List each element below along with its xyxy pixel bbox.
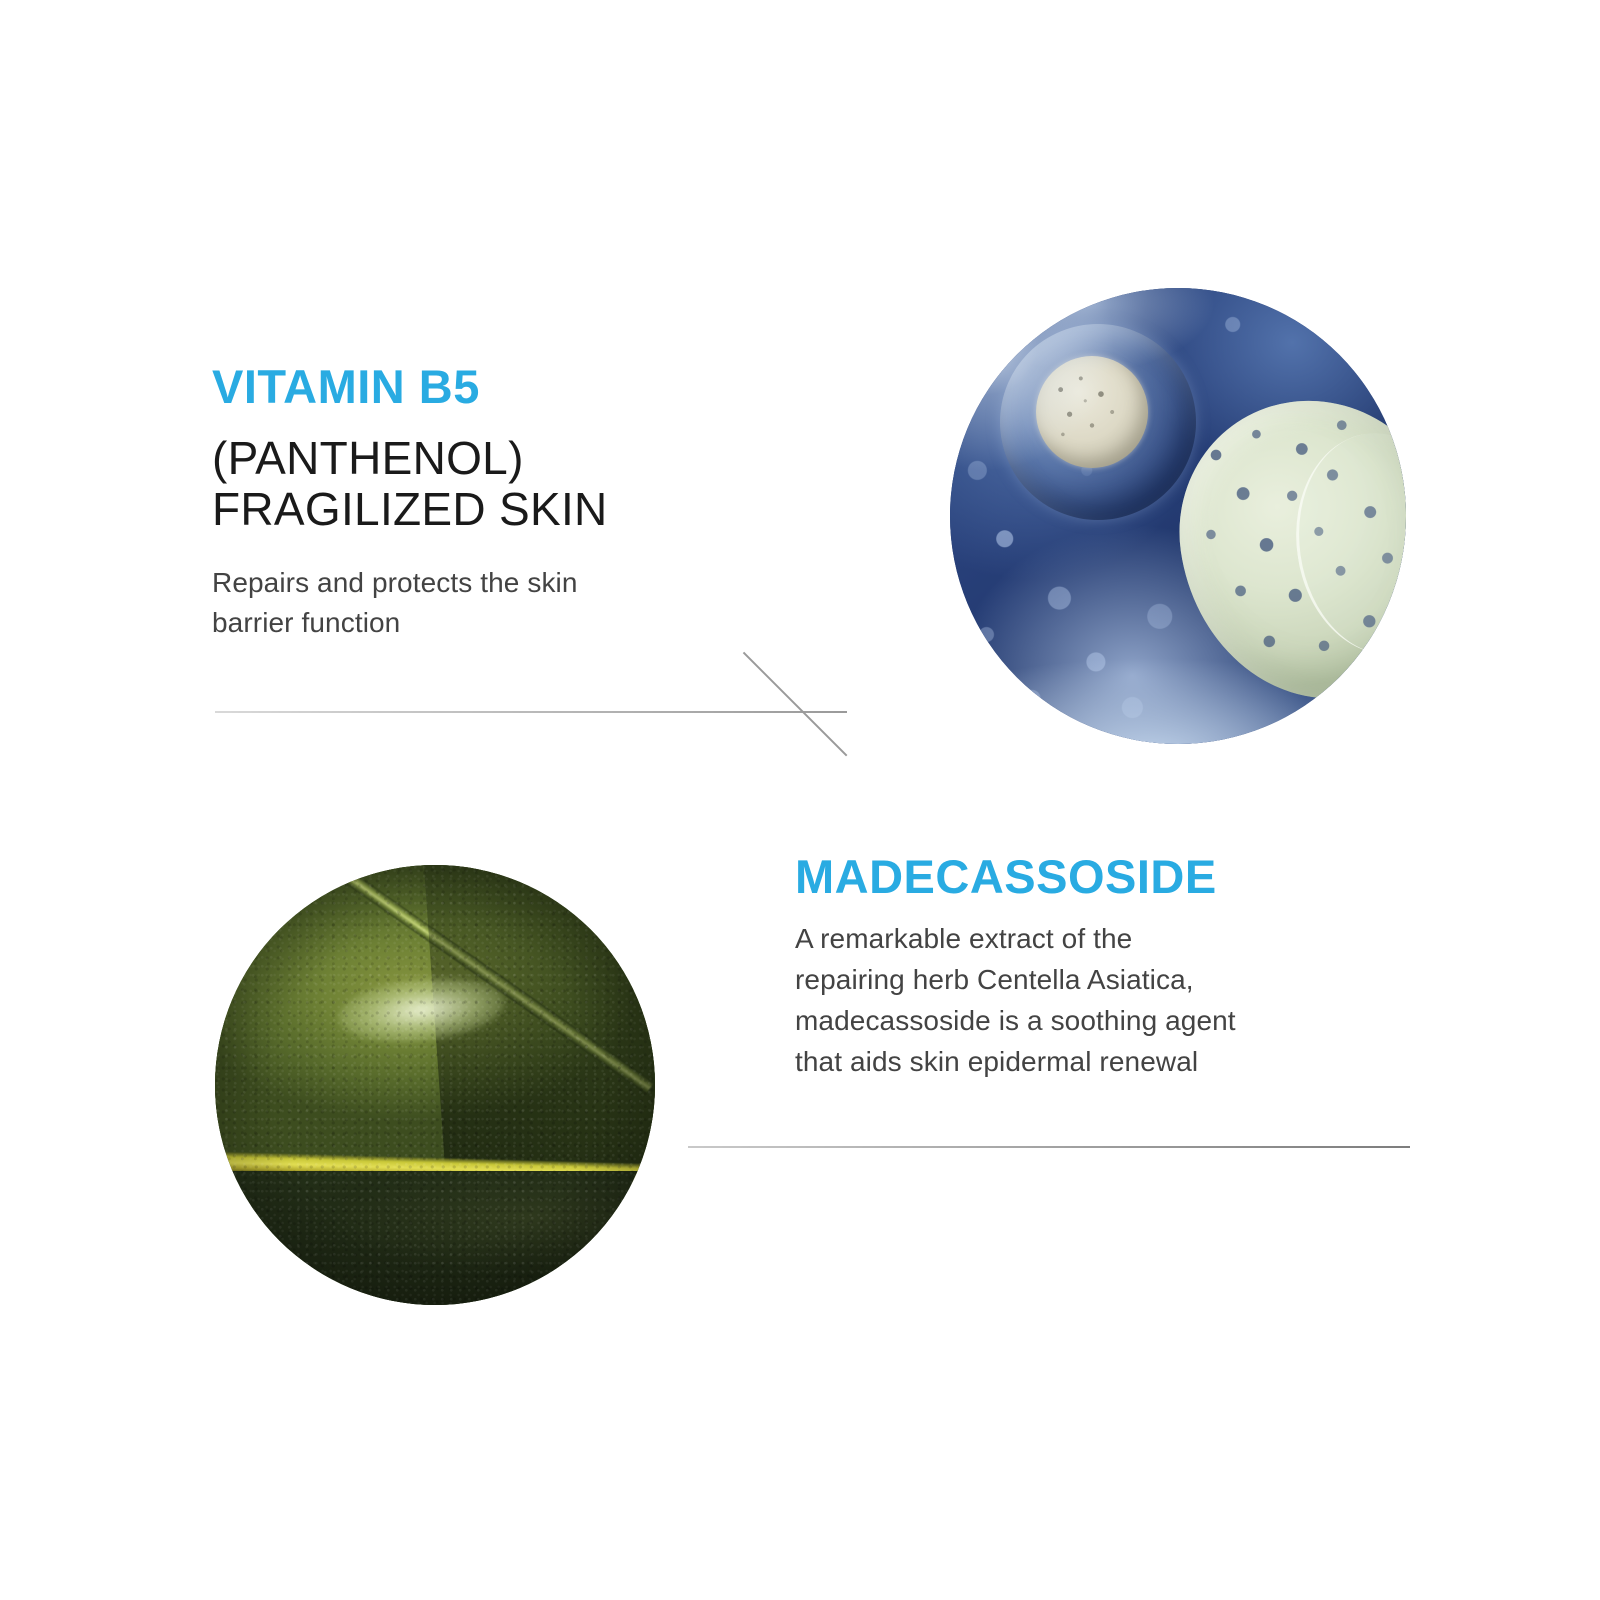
madecassoside-description-line-3: madecassoside is a soothing agent <box>795 1001 1435 1042</box>
leaf-vignette <box>215 865 655 1305</box>
vitamin-b5-subheading-line-1: (PANTHENOL) <box>212 433 912 484</box>
water-rim-highlight <box>950 288 1406 744</box>
vitamin-b5-subheading-line-2: FRAGILIZED SKIN <box>212 484 912 535</box>
vitamin-b5-description-line-2: barrier function <box>212 603 912 644</box>
vitamin-b5-underline-rule <box>215 711 847 713</box>
vitamin-b5-description: Repairs and protects the skin barrier fu… <box>212 563 912 645</box>
vitamin-b5-heading: VITAMIN B5 <box>212 362 912 411</box>
madecassoside-underline-rule <box>688 1146 1410 1148</box>
madecassoside-heading: MADECASSOSIDE <box>795 852 1435 901</box>
vitamin-b5-description-line-1: Repairs and protects the skin <box>212 563 912 604</box>
madecassoside-description-line-2: repairing herb Centella Asiatica, <box>795 960 1435 1001</box>
vitamin-b5-text-block: VITAMIN B5 (PANTHENOL) FRAGILIZED SKIN R… <box>212 362 912 644</box>
vitamin-b5-subheading: (PANTHENOL) FRAGILIZED SKIN <box>212 433 912 534</box>
madecassoside-description: A remarkable extract of the repairing he… <box>795 919 1435 1083</box>
vitamin-b5-leader-line <box>743 652 848 757</box>
water-droplet-circle-image <box>950 288 1406 744</box>
infographic-canvas: VITAMIN B5 (PANTHENOL) FRAGILIZED SKIN R… <box>0 0 1600 1600</box>
madecassoside-description-line-1: A remarkable extract of the <box>795 919 1435 960</box>
madecassoside-description-line-4: that aids skin epidermal renewal <box>795 1042 1435 1083</box>
madecassoside-text-block: MADECASSOSIDE A remarkable extract of th… <box>795 852 1435 1083</box>
green-leaf-circle-image <box>215 865 655 1305</box>
